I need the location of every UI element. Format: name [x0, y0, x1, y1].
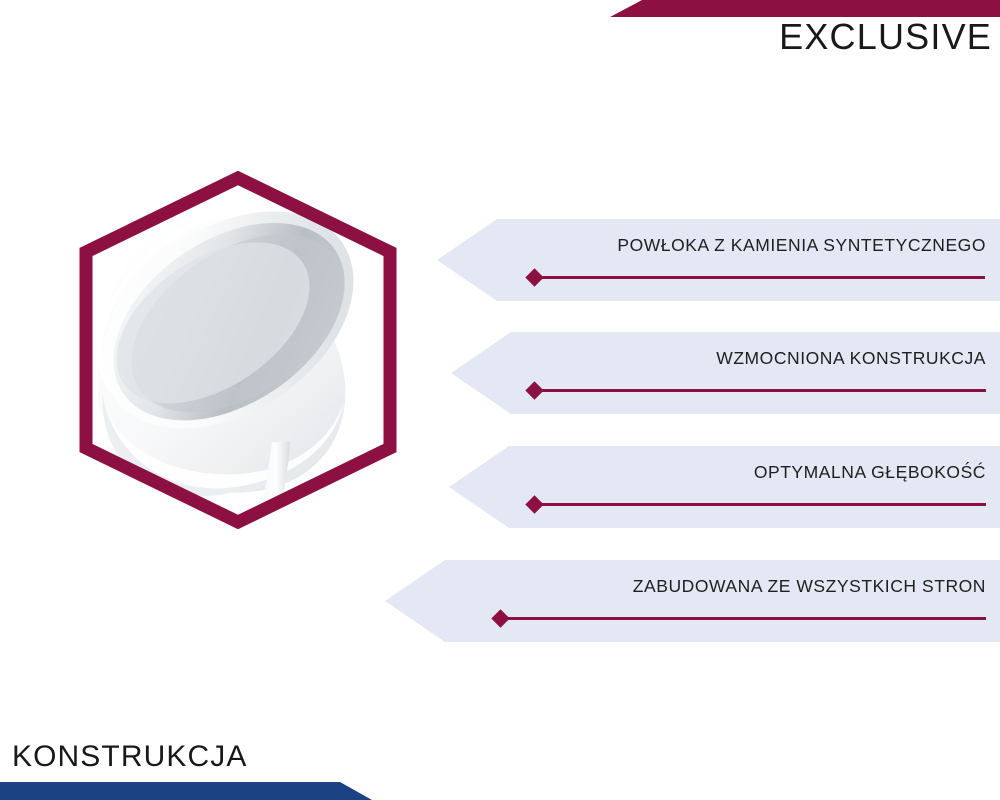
feature-rule	[533, 503, 986, 506]
slide-root: EXCLUSIVE	[0, 0, 1000, 800]
feature-callout[interactable]: OPTYMALNA GŁĘBOKOŚĆ	[449, 446, 1000, 528]
section-title-konstrukcja: KONSTRUKCJA	[12, 742, 247, 772]
feature-rule	[499, 617, 986, 620]
diamond-marker-icon	[525, 381, 543, 399]
diamond-marker-icon	[525, 268, 543, 286]
page-title-exclusive: EXCLUSIVE	[779, 19, 992, 55]
feature-callout[interactable]: WZMOCNIONA KONSTRUKCJA	[451, 332, 1000, 414]
feature-label: WZMOCNIONA KONSTRUKCJA	[716, 350, 986, 368]
feature-label: ZABUDOWANA ZE WSZYSTKICH STRON	[633, 578, 986, 596]
feature-rule	[533, 389, 986, 392]
feature-callout[interactable]: ZABUDOWANA ZE WSZYSTKICH STRON	[385, 560, 1000, 642]
feature-callout[interactable]: POWŁOKA Z KAMIENIA SYNTETYCZNEGO	[437, 219, 1000, 301]
diamond-marker-icon	[491, 609, 509, 627]
feature-rule	[533, 276, 985, 279]
diamond-marker-icon	[525, 495, 543, 513]
feature-label: OPTYMALNA GŁĘBOKOŚĆ	[754, 464, 986, 482]
top-accent-banner	[610, 0, 1000, 17]
feature-label: POWŁOKA Z KAMIENIA SYNTETYCZNEGO	[617, 237, 986, 255]
bottom-accent-banner	[0, 782, 372, 800]
product-hexagon-frame	[76, 170, 400, 530]
